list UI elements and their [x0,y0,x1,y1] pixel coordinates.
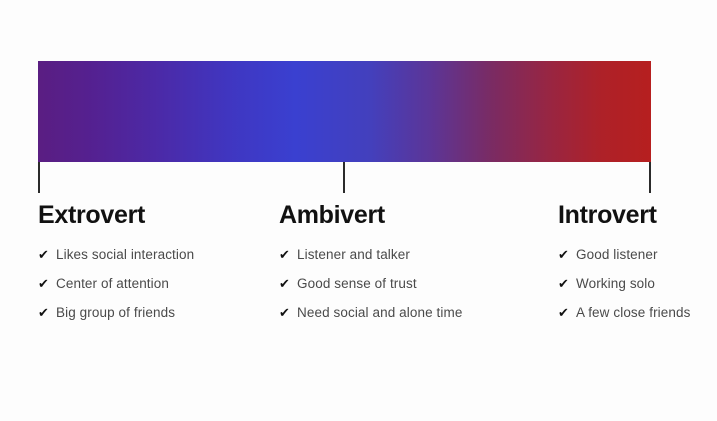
list-item: ✔ Likes social interaction [38,240,278,269]
tick-mark-ambivert [343,162,345,193]
list-item: ✔ Working solo [558,269,717,298]
list-item-label: Center of attention [56,269,169,298]
column-ambivert: Ambivert ✔ Listener and talker ✔ Good se… [279,200,529,327]
bullet-list-ambivert: ✔ Listener and talker ✔ Good sense of tr… [279,240,529,327]
list-item-label: Listener and talker [297,240,410,269]
check-icon: ✔ [279,298,297,327]
list-item: ✔ Good listener [558,240,717,269]
tick-mark-extrovert [38,162,40,193]
check-icon: ✔ [38,298,56,327]
check-icon: ✔ [279,269,297,298]
check-icon: ✔ [38,240,56,269]
list-item-label: A few close friends [576,298,690,327]
check-icon: ✔ [558,269,576,298]
bullet-list-introvert: ✔ Good listener ✔ Working solo ✔ A few c… [558,240,717,327]
tick-mark-introvert [649,162,651,193]
list-item-label: Big group of friends [56,298,175,327]
list-item: ✔ Center of attention [38,269,278,298]
check-icon: ✔ [38,269,56,298]
column-introvert: Introvert ✔ Good listener ✔ Working solo… [558,200,717,327]
column-title-extrovert: Extrovert [38,200,278,230]
list-item-label: Need social and alone time [297,298,462,327]
list-item-label: Likes social interaction [56,240,194,269]
list-item-label: Working solo [576,269,655,298]
list-item: ✔ Listener and talker [279,240,529,269]
column-extrovert: Extrovert ✔ Likes social interaction ✔ C… [38,200,278,327]
check-icon: ✔ [279,240,297,269]
bullet-list-extrovert: ✔ Likes social interaction ✔ Center of a… [38,240,278,327]
list-item: ✔ A few close friends [558,298,717,327]
column-title-ambivert: Ambivert [279,200,529,230]
check-icon: ✔ [558,298,576,327]
column-title-introvert: Introvert [558,200,717,230]
personality-spectrum-gradient-bar [38,61,651,162]
list-item: ✔ Big group of friends [38,298,278,327]
check-icon: ✔ [558,240,576,269]
list-item: ✔ Good sense of trust [279,269,529,298]
list-item-label: Good listener [576,240,658,269]
list-item-label: Good sense of trust [297,269,417,298]
infographic-canvas: Extrovert ✔ Likes social interaction ✔ C… [0,0,717,421]
list-item: ✔ Need social and alone time [279,298,529,327]
